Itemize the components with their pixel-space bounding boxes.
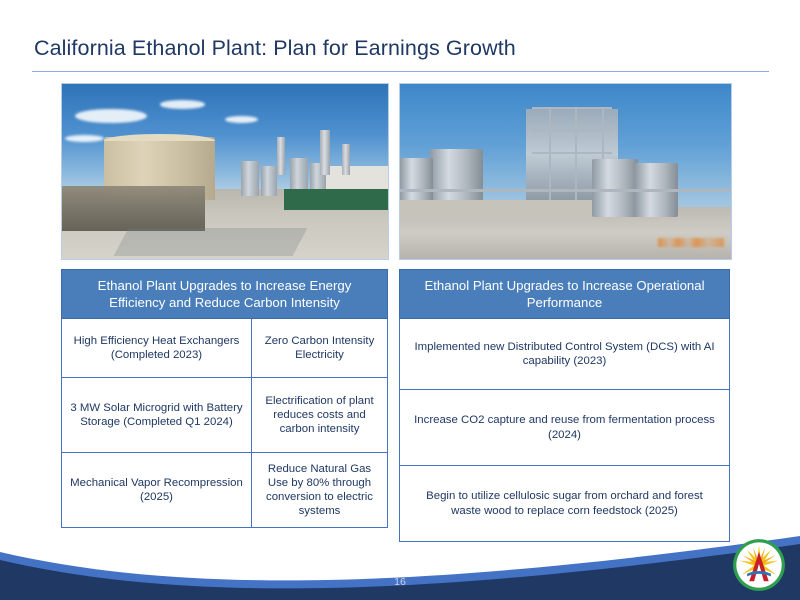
page-number: 16	[0, 576, 800, 588]
table-row: Mechanical Vapor Recompression (2025) Re…	[62, 453, 388, 528]
cloud-icon	[65, 135, 104, 142]
slide-canvas: California Ethanol Plant: Plan for Earni…	[0, 0, 800, 600]
table-row: 3 MW Solar Microgrid with Battery Storag…	[62, 378, 388, 453]
table-row: High Efficiency Heat Exchangers (Complet…	[62, 319, 388, 378]
cloud-icon	[160, 100, 206, 109]
structure-column	[549, 107, 551, 200]
table-row: Implemented new Distributed Control Syst…	[400, 319, 730, 390]
cell-upgrade: Mechanical Vapor Recompression (2025)	[62, 453, 252, 528]
distillation-column	[342, 144, 349, 176]
road-shadow	[113, 228, 307, 256]
photo-ethanol-plant-right	[399, 83, 732, 260]
structure-beam	[532, 152, 611, 154]
pipe-bridge	[400, 189, 731, 192]
cell-benefit: Reduce Natural Gas Use by 80% through co…	[252, 453, 388, 528]
structure-column	[575, 107, 577, 200]
footer-wave-decoration: 16	[0, 522, 800, 600]
distillation-column	[277, 137, 285, 176]
title-divider	[32, 71, 769, 72]
photo-ethanol-plant-left	[61, 83, 389, 260]
cell-upgrade: 3 MW Solar Microgrid with Battery Storag…	[62, 378, 252, 453]
perimeter-fence	[284, 189, 388, 210]
cell-initiative: Increase CO2 capture and reuse from ferm…	[400, 390, 730, 466]
process-tank	[261, 166, 277, 196]
process-tank	[241, 161, 259, 196]
table-row: Increase CO2 capture and reuse from ferm…	[400, 390, 730, 466]
table-energy-efficiency: Ethanol Plant Upgrades to Increase Energ…	[61, 269, 388, 528]
cell-initiative: Implemented new Distributed Control Syst…	[400, 319, 730, 390]
table-operational-performance: Ethanol Plant Upgrades to Increase Opera…	[399, 269, 730, 542]
photo-datestamp	[658, 238, 724, 247]
company-logo	[732, 538, 786, 592]
structure-beam	[532, 107, 611, 109]
table-left-header: Ethanol Plant Upgrades to Increase Energ…	[62, 270, 388, 319]
distillation-column	[320, 130, 330, 176]
cloud-icon	[75, 109, 147, 123]
cell-benefit: Electrification of plant reduces costs a…	[252, 378, 388, 453]
pipe-rack	[62, 186, 205, 232]
structure-beam	[532, 130, 611, 132]
concrete-wall	[400, 200, 592, 221]
cell-benefit: Zero Carbon Intensity Electricity	[252, 319, 388, 378]
page-title: California Ethanol Plant: Plan for Earni…	[34, 36, 516, 61]
table-right-header: Ethanol Plant Upgrades to Increase Opera…	[400, 270, 730, 319]
cloud-icon	[225, 116, 258, 123]
cell-upgrade: High Efficiency Heat Exchangers (Complet…	[62, 319, 252, 378]
